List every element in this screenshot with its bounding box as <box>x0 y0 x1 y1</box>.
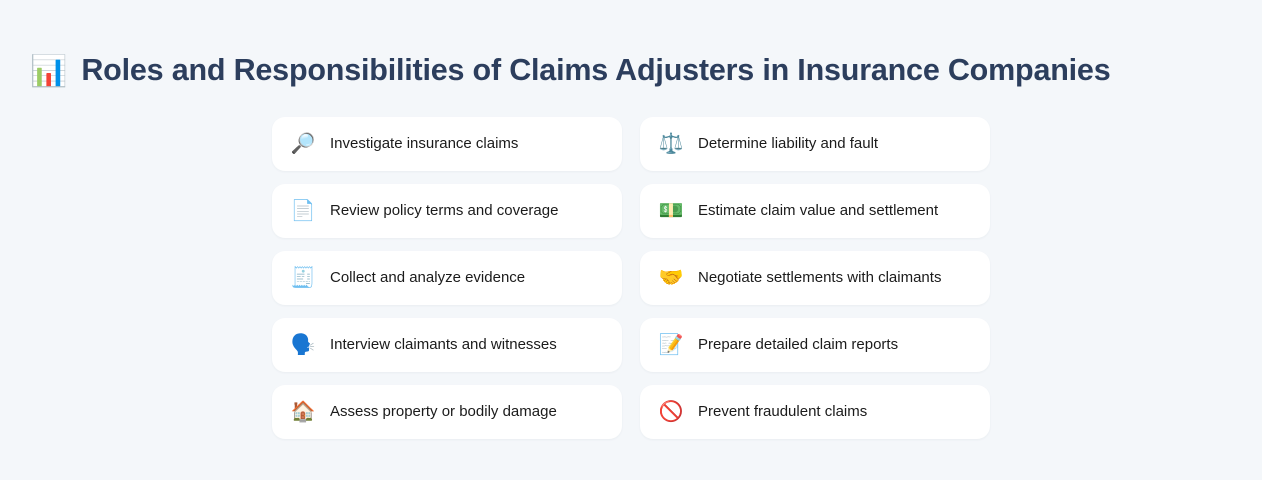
list-item[interactable]: 🤝 Negotiate settlements with claimants <box>640 251 990 305</box>
list-item[interactable]: 🔎 Investigate insurance claims <box>272 117 622 171</box>
list-item[interactable]: ⚖️ Determine liability and fault <box>640 117 990 171</box>
list-item-label: Investigate insurance claims <box>330 135 518 153</box>
document-icon: 📄 <box>288 201 318 221</box>
list-item-label: Estimate claim value and settlement <box>698 202 938 220</box>
list-item[interactable]: 📄 Review policy terms and coverage <box>272 184 622 238</box>
list-item-label: Assess property or bodily damage <box>330 403 557 421</box>
list-item[interactable]: 🧾 Collect and analyze evidence <box>272 251 622 305</box>
list-item[interactable]: 🗣️ Interview claimants and witnesses <box>272 318 622 372</box>
banknote-icon: 💵 <box>656 201 686 221</box>
infographic-page: 📊 Roles and Responsibilities of Claims A… <box>0 0 1262 480</box>
bar-chart-icon: 📊 <box>30 57 67 87</box>
list-item-label: Negotiate settlements with claimants <box>698 269 941 287</box>
prohibited-icon: 🚫 <box>656 402 686 422</box>
house-icon: 🏠 <box>288 402 318 422</box>
receipt-icon: 🧾 <box>288 268 318 288</box>
handshake-icon: 🤝 <box>656 268 686 288</box>
magnifying-glass-icon: 🔎 <box>288 134 318 154</box>
list-item-label: Prepare detailed claim reports <box>698 336 898 354</box>
list-item[interactable]: 🚫 Prevent fraudulent claims <box>640 385 990 439</box>
page-title: Roles and Responsibilities of Claims Adj… <box>81 54 1110 88</box>
speaking-head-icon: 🗣️ <box>288 335 318 355</box>
page-header: 📊 Roles and Responsibilities of Claims A… <box>0 0 1262 94</box>
list-item[interactable]: 💵 Estimate claim value and settlement <box>640 184 990 238</box>
list-item-label: Determine liability and fault <box>698 135 878 153</box>
list-item[interactable]: 🏠 Assess property or bodily damage <box>272 385 622 439</box>
list-item-label: Prevent fraudulent claims <box>698 403 867 421</box>
memo-pencil-icon: 📝 <box>656 335 686 355</box>
list-item[interactable]: 📝 Prepare detailed claim reports <box>640 318 990 372</box>
balance-scale-icon: ⚖️ <box>656 134 686 154</box>
list-item-label: Review policy terms and coverage <box>330 202 558 220</box>
list-item-label: Collect and analyze evidence <box>330 269 525 287</box>
responsibility-card-grid: 🔎 Investigate insurance claims ⚖️ Determ… <box>272 117 990 439</box>
list-item-label: Interview claimants and witnesses <box>330 336 557 354</box>
